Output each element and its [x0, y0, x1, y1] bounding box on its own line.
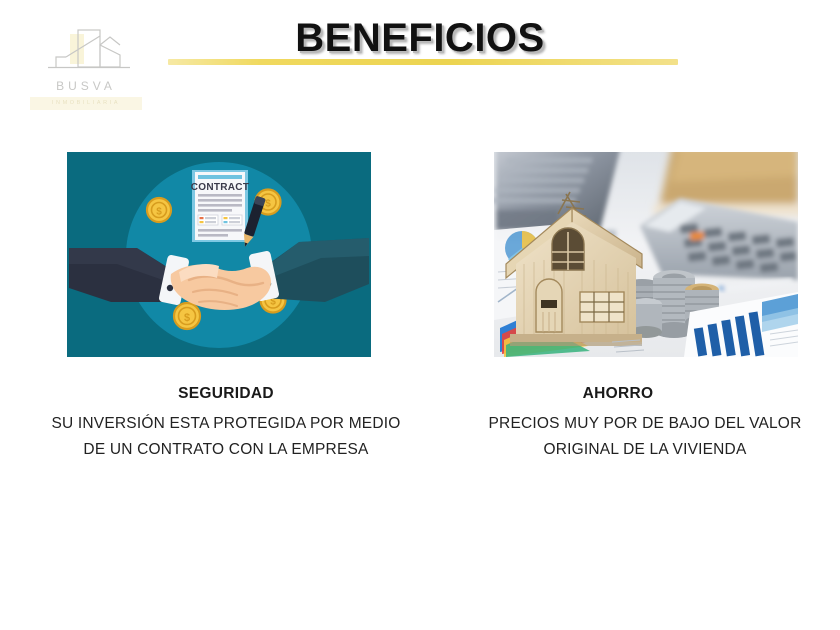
benefit-caption-ahorro: AHORRO PRECIOS MUY POR DE BAJO DEL VALOR… — [448, 385, 788, 462]
benefit-heading-ahorro: AHORRO — [448, 385, 788, 402]
handshake-contract-illustration: $ $ $ $ — [67, 152, 371, 357]
benefit-caption-seguridad: SEGURIDAD SU INVERSIÓN ESTA PROTEGIDA PO… — [56, 385, 396, 462]
svg-text:$: $ — [265, 199, 271, 210]
benefit-card-seguridad: $ $ $ $ — [56, 152, 396, 462]
busva-logo-tagline-text: INMOBILIARIA — [52, 100, 120, 106]
benefit-body-ahorro: PRECIOS MUY POR DE BAJO DEL VALOR ORIGIN… — [472, 411, 818, 462]
svg-text:CONTRACT: CONTRACT — [191, 182, 250, 193]
svg-text:$: $ — [156, 207, 162, 218]
benefit-heading-seguridad: SEGURIDAD — [56, 385, 396, 402]
benefits-card-group: $ $ $ $ — [0, 152, 840, 512]
benefit-card-ahorro: AHORRO PRECIOS MUY POR DE BAJO DEL VALOR… — [448, 152, 788, 462]
svg-text:$: $ — [184, 312, 190, 324]
benefit-body-seguridad: SU INVERSIÓN ESTA PROTEGIDA POR MEDIO DE… — [50, 411, 402, 462]
busva-logo-tagline: INMOBILIARIA — [26, 97, 146, 110]
wooden-house-coins-calculator-photo — [494, 152, 798, 357]
title-underline-rule — [168, 59, 678, 65]
page-title: BENEFICIOS — [0, 16, 840, 61]
